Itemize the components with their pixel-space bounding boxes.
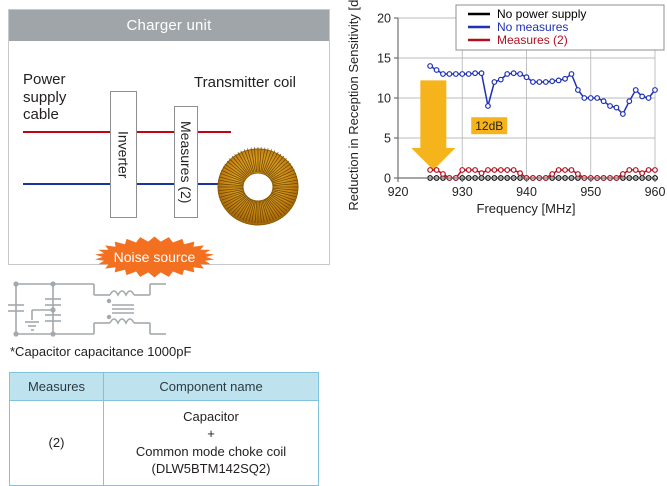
svg-text:20: 20 (377, 12, 391, 26)
series-point (518, 171, 523, 176)
series-point (621, 172, 626, 177)
series-point (511, 71, 516, 76)
chart-legend: No power supplyNo measuresMeasures (2) (456, 5, 664, 50)
svg-text:0: 0 (384, 172, 391, 186)
component-line-2: + (108, 425, 314, 442)
series-point (511, 168, 516, 173)
svg-text:930: 930 (452, 185, 473, 199)
transmitter-coil-label: Transmitter coil (194, 74, 296, 92)
series-point (588, 96, 593, 101)
reduction-vs-frequency-chart: 12dB 05101520920930940950960 Frequency [… (345, 0, 667, 230)
charger-unit-title: Charger unit (9, 10, 329, 41)
series-point (441, 172, 446, 177)
noise-source-badge: Noise source (94, 236, 215, 278)
cell-component-name: Capacitor + Common mode choke coil (DLW5… (104, 401, 319, 486)
series-point (524, 75, 529, 80)
svg-text:15: 15 (377, 52, 391, 66)
legend-label: No measures (497, 20, 568, 34)
x-axis-title: Frequency [MHz] (477, 201, 576, 216)
series-point (492, 168, 497, 173)
series-point (627, 99, 632, 104)
series-point (492, 80, 497, 85)
series-point (576, 172, 581, 177)
measures-component-table: Measures Component name (2) Capacitor + … (9, 372, 319, 486)
column-header-measures: Measures (10, 373, 104, 401)
y-axis-title: Reduction in Reception Sensitivity [dB] (346, 0, 361, 211)
series-point (434, 68, 439, 73)
series-point (486, 104, 491, 109)
red-wire-segment-1 (23, 131, 113, 133)
series-point (653, 88, 658, 93)
series-point (505, 72, 510, 77)
series-point (640, 171, 645, 176)
series-point (608, 104, 613, 109)
series-point (473, 168, 478, 173)
series-point (447, 72, 452, 77)
series-point (627, 168, 632, 173)
series-point (653, 168, 658, 173)
svg-text:950: 950 (580, 185, 601, 199)
series-point (543, 80, 548, 85)
legend-label: No power supply (497, 7, 586, 21)
component-line-3: Common mode choke coil (108, 443, 314, 460)
series-point (563, 168, 568, 173)
series-point (505, 168, 510, 173)
series-point (531, 80, 536, 85)
legend-label: Measures (2) (497, 33, 568, 47)
series-point (428, 168, 433, 173)
series-point (569, 72, 574, 77)
series-point (569, 168, 574, 173)
series-point (556, 78, 561, 83)
blue-wire-segment-2 (134, 183, 178, 185)
series-point (537, 80, 542, 85)
table-header-row: Measures Component name (10, 373, 319, 401)
series-point (460, 72, 465, 77)
series-point (614, 105, 619, 110)
red-wire-segment-2 (134, 131, 178, 133)
series-point (563, 77, 568, 82)
series-point (646, 96, 651, 101)
series-point (633, 88, 638, 93)
red-wire-segment-3 (195, 131, 231, 133)
svg-text:940: 940 (516, 185, 537, 199)
power-supply-cable-label: Powersupplycable (23, 71, 66, 124)
svg-text:5: 5 (384, 132, 391, 146)
measures-box-label: Measures (2) (178, 121, 194, 203)
series-point (428, 64, 433, 69)
series-point (486, 168, 491, 173)
transmitter-coil-graphic (216, 145, 300, 229)
series-point (499, 77, 504, 82)
inverter-label: Inverter (116, 131, 132, 178)
component-line-4: (DLW5BTM142SQ2) (108, 460, 314, 477)
charger-unit-diagram: Inverter Measures (2) Noise source Power… (9, 41, 329, 265)
series-point (434, 168, 439, 173)
column-header-component-name: Component name (104, 373, 319, 401)
svg-text:12dB: 12dB (475, 119, 503, 133)
charger-unit-panel: Charger unit (8, 9, 330, 265)
series-point (499, 168, 504, 173)
sensitivity-chart-panel: 12dB 05101520920930940950960 Frequency [… (345, 0, 667, 230)
series-point (556, 168, 561, 173)
inverter-box: Inverter (110, 91, 137, 218)
component-line-1: Capacitor (108, 408, 314, 425)
series-point (550, 172, 555, 177)
series-point (576, 88, 581, 93)
series-point (518, 72, 523, 77)
svg-text:960: 960 (645, 185, 666, 199)
series-point (454, 72, 459, 77)
series-point (460, 168, 465, 173)
series-point (479, 171, 484, 176)
series-point (595, 96, 600, 101)
series-point (473, 71, 478, 76)
series-point (479, 71, 484, 76)
table-row: (2) Capacitor + Common mode choke coil (… (10, 401, 319, 486)
measures-box: Measures (2) (174, 106, 198, 218)
svg-text:10: 10 (377, 92, 391, 106)
noise-source-label: Noise source (94, 236, 215, 278)
series-point (466, 72, 471, 77)
capacitor-capacitance-note: *Capacitor capacitance 1000pF (10, 344, 191, 359)
blue-wire-segment-1 (23, 183, 113, 185)
cell-measures-number: (2) (10, 401, 104, 486)
svg-text:920: 920 (388, 185, 409, 199)
series-point (633, 168, 638, 173)
series-point (640, 94, 645, 99)
series-point (601, 99, 606, 104)
db-annotation-label: 12dB (471, 117, 507, 134)
series-point (550, 79, 555, 84)
series-point (621, 112, 626, 117)
series-point (582, 96, 587, 101)
filter-circuit-schematic (6, 278, 186, 340)
series-point (441, 72, 446, 77)
series-point (646, 168, 651, 173)
series-point (466, 168, 471, 173)
